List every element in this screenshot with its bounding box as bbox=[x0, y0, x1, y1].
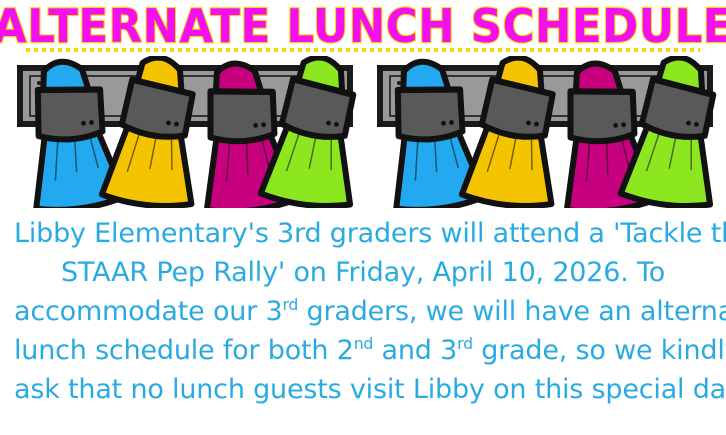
title-divider-dotted-line bbox=[26, 48, 700, 52]
megaphone-banner bbox=[0, 56, 726, 208]
body-line-3-ordinal-suffix: rd bbox=[282, 295, 298, 314]
body-line-4: lunch schedule for both 2nd and 3rd grad… bbox=[14, 331, 712, 370]
body-line-4-pre: lunch schedule for both 2 bbox=[14, 335, 354, 366]
body-line-5-text: ask that no lunch guests visit Libby on … bbox=[14, 374, 726, 405]
body-line-4-mid: and 3 bbox=[373, 335, 457, 366]
page-title: ALTERNATE LUNCH SCHEDULE bbox=[0, 0, 726, 52]
body-line-2: STAAR Pep Rally' on Friday, April 10, 20… bbox=[14, 253, 712, 292]
body-line-1: Libby Elementary's 3rd graders will atte… bbox=[14, 214, 712, 253]
megaphone-cluster-icon bbox=[368, 56, 718, 208]
flyer-page: ALTERNATE LUNCH SCHEDULE bbox=[0, 0, 726, 435]
page-title-text: ALTERNATE LUNCH SCHEDULE bbox=[0, 1, 726, 51]
body-line-4-post: grade, so we kindly bbox=[473, 335, 726, 366]
body-line-1-text: Libby Elementary's 3rd graders will atte… bbox=[14, 218, 726, 249]
megaphone-cluster-icon bbox=[8, 56, 358, 208]
megaphone-group-left bbox=[8, 56, 358, 208]
body-line-3-post: graders, we will have an alternate bbox=[298, 296, 726, 327]
megaphone-group-right bbox=[368, 56, 718, 208]
body-line-3: accommodate our 3rd graders, we will hav… bbox=[14, 292, 712, 331]
body-line-2-text: STAAR Pep Rally' on Friday, April 10, 20… bbox=[61, 257, 665, 288]
body-line-3-pre: accommodate our 3 bbox=[14, 296, 282, 327]
body-line-4-ordinal-suffix-2: rd bbox=[457, 334, 473, 353]
body-line-5: ask that no lunch guests visit Libby on … bbox=[14, 370, 712, 409]
announcement-body: Libby Elementary's 3rd graders will atte… bbox=[14, 214, 712, 409]
body-line-4-ordinal-suffix-1: nd bbox=[354, 334, 373, 353]
